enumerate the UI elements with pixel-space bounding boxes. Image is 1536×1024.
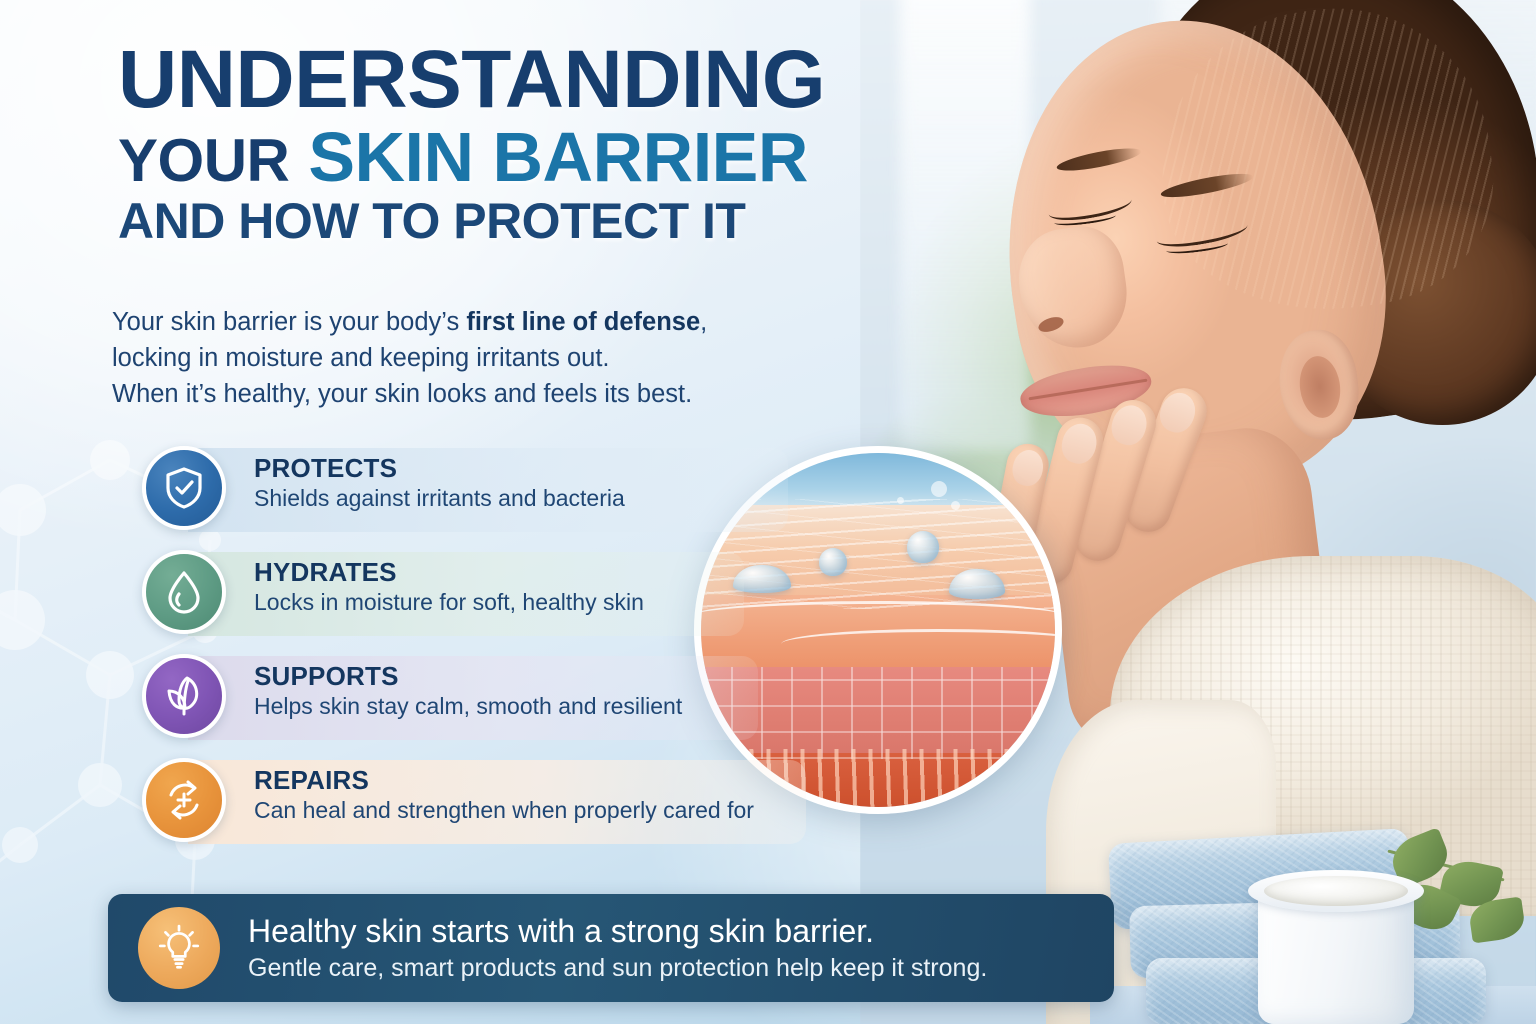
benefit-row-hydrates[interactable]: HYDRATES Locks in moisture for soft, hea… — [142, 550, 782, 638]
headline-line-1: UNDERSTANDING — [118, 42, 978, 117]
headline-line-3: AND HOW TO PROTECT IT — [118, 198, 978, 244]
intro-emphasis: first line of defense — [466, 308, 700, 336]
benefit-title: REPAIRS — [254, 766, 754, 795]
takeaway-banner[interactable]: Healthy skin starts with a strong skin b… — [108, 894, 1114, 1002]
benefits-list: PROTECTS Shields against irritants and b… — [142, 446, 782, 862]
benefit-row-supports[interactable]: SUPPORTS Helps skin stay calm, smooth an… — [142, 654, 782, 742]
benefit-description: Shields against irritants and bacteria — [254, 485, 625, 513]
benefit-row-repairs[interactable]: REPAIRS Can heal and strengthen when pro… — [142, 758, 782, 846]
banner-subline: Gentle care, smart products and sun prot… — [248, 953, 987, 983]
intro-line-3: When it’s healthy, your skin looks and f… — [112, 380, 692, 408]
water-drop-icon — [142, 550, 226, 634]
water-droplet — [819, 548, 847, 576]
benefit-title: PROTECTS — [254, 454, 625, 483]
benefit-row-protects[interactable]: PROTECTS Shields against irritants and b… — [142, 446, 782, 534]
infographic-canvas: UNDERSTANDING YOUR SKIN BARRIER AND HOW … — [0, 0, 1536, 1024]
banner-headline: Healthy skin starts with a strong skin b… — [248, 913, 987, 951]
benefit-title: SUPPORTS — [254, 662, 682, 691]
shield-check-icon — [142, 446, 226, 530]
benefit-description: Locks in moisture for soft, healthy skin — [254, 589, 644, 617]
benefit-title: HYDRATES — [254, 558, 644, 587]
intro-paragraph: Your skin barrier is your body’s first l… — [112, 304, 812, 413]
repair-cycle-icon — [142, 758, 226, 842]
lightbulb-icon — [138, 907, 220, 989]
benefit-description: Can heal and strengthen when properly ca… — [254, 797, 754, 825]
intro-part-2: , — [700, 308, 707, 336]
headline-block: UNDERSTANDING YOUR SKIN BARRIER AND HOW … — [118, 42, 978, 244]
water-droplet — [907, 531, 939, 563]
headline-word-skin-barrier: SKIN BARRIER — [308, 118, 808, 196]
leaves-icon — [142, 654, 226, 738]
headline-word-your: YOUR — [118, 127, 289, 194]
intro-part-1: Your skin barrier is your body’s — [112, 308, 466, 336]
headline-line-2: YOUR SKIN BARRIER — [118, 125, 978, 189]
intro-line-2: locking in moisture and keeping irritant… — [112, 344, 610, 372]
benefit-description: Helps skin stay calm, smooth and resilie… — [254, 693, 682, 721]
